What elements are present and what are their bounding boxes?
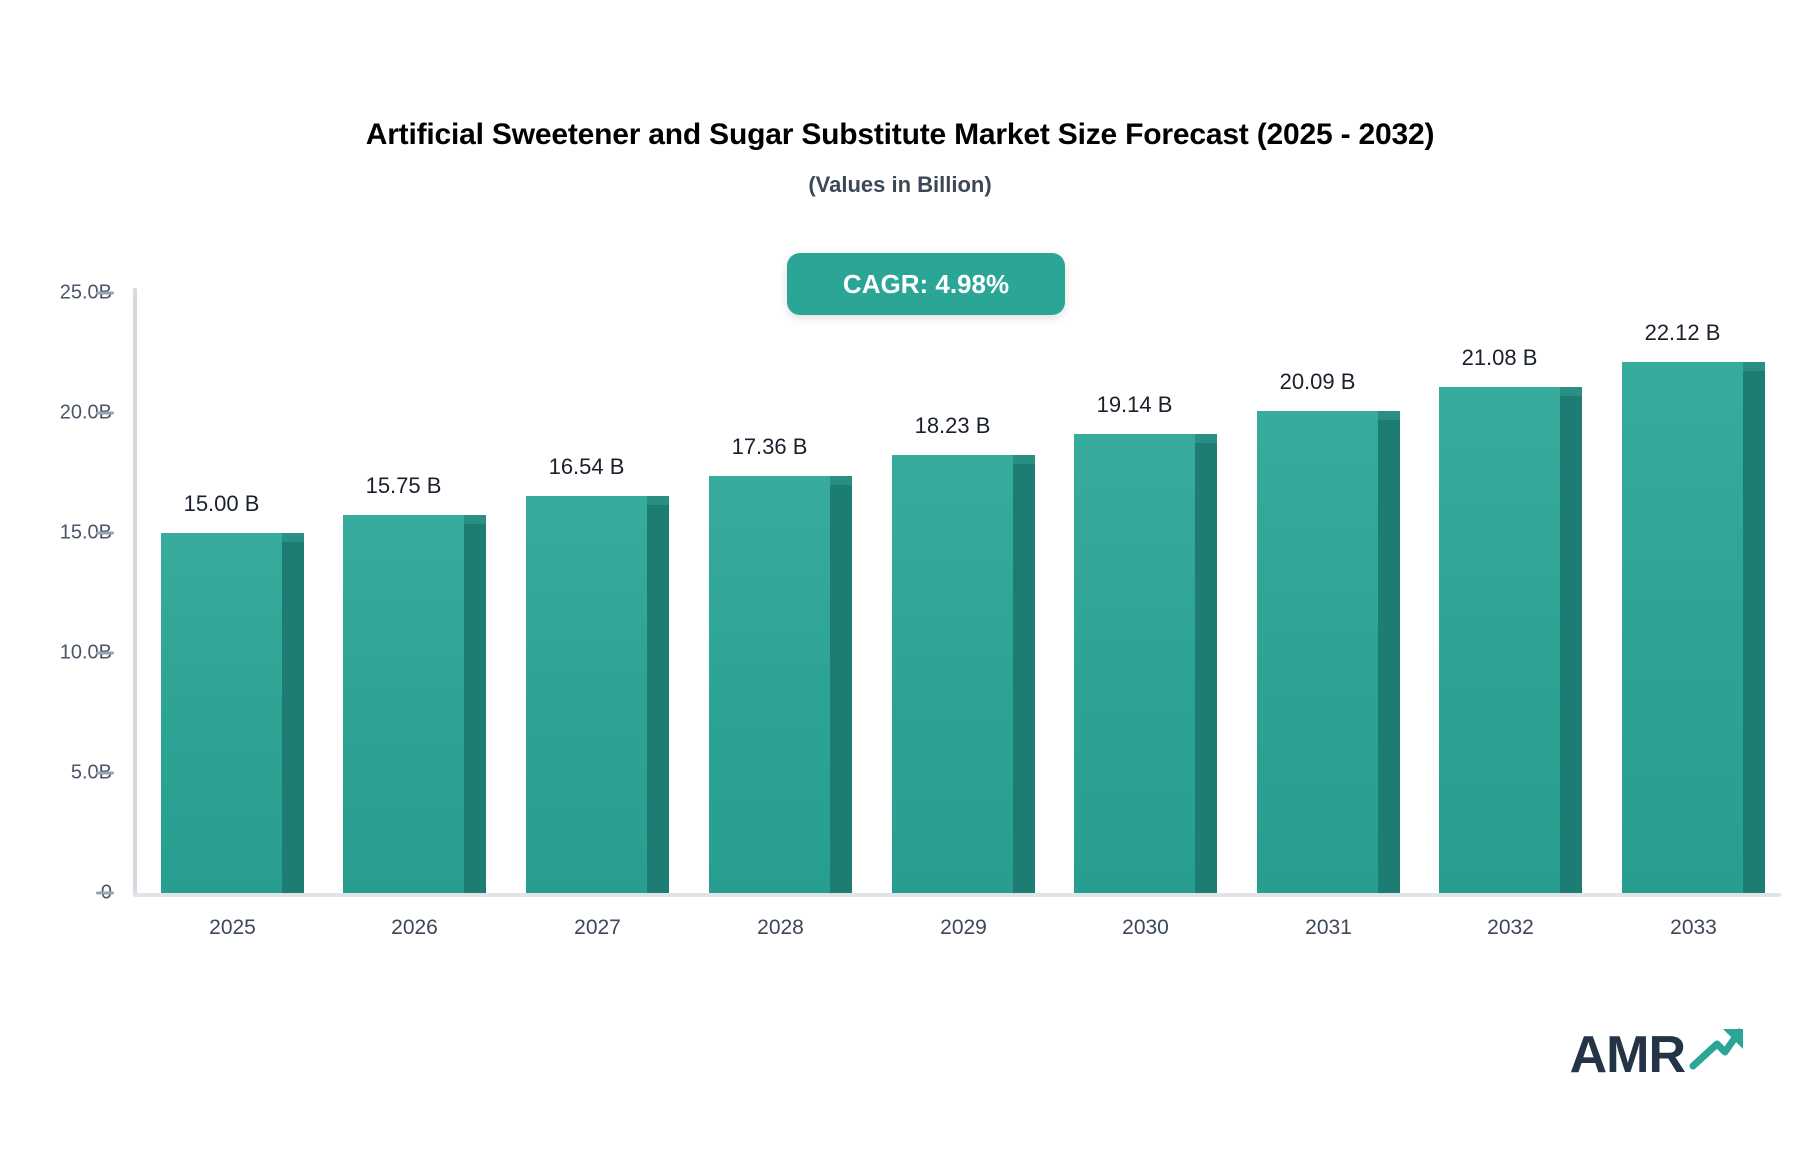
bar-front-face	[1622, 362, 1743, 893]
bar-front-face	[1257, 411, 1378, 893]
bar-value-label: 15.00 B	[184, 491, 260, 517]
bar-side-face	[282, 542, 304, 893]
bar-front-face	[526, 496, 647, 893]
bar-side-face	[464, 524, 486, 893]
bar-value-label: 22.12 B	[1645, 320, 1721, 346]
x-axis-label-2033: 2033	[1670, 916, 1717, 940]
bar-side-face	[647, 505, 669, 893]
bar-2026[interactable]	[343, 515, 486, 893]
bar-side-face	[1743, 371, 1765, 893]
chart-plot-area: 05.0B10.0B15.0B20.0B25.0B 15.00 B15.75 B…	[0, 0, 1800, 1156]
bar-value-label: 21.08 B	[1462, 345, 1538, 371]
y-axis-tick-mark	[96, 892, 114, 895]
bar-side-face	[830, 485, 852, 893]
x-axis-label-2031: 2031	[1305, 916, 1352, 940]
bar-value-label: 16.54 B	[549, 454, 625, 480]
bar-2029[interactable]	[892, 455, 1035, 893]
bar-value-label: 20.09 B	[1280, 369, 1356, 395]
x-axis-label-2026: 2026	[391, 916, 438, 940]
x-axis-label-2032: 2032	[1487, 916, 1534, 940]
bar-front-face	[892, 455, 1013, 893]
x-axis-label-2030: 2030	[1122, 916, 1169, 940]
bar-side-face	[1378, 420, 1400, 893]
x-axis-line	[133, 893, 1781, 897]
bar-2033[interactable]	[1622, 362, 1765, 893]
y-axis-line	[133, 288, 137, 895]
y-axis-tick-mark	[96, 532, 114, 535]
bar-side-face	[1560, 396, 1582, 893]
amr-logo: AMR	[1570, 1026, 1745, 1081]
bar-2028[interactable]	[709, 476, 852, 893]
x-axis-label-2029: 2029	[940, 916, 987, 940]
bar-top-face	[647, 496, 669, 505]
x-axis-label-2025: 2025	[209, 916, 256, 940]
bar-top-face	[1743, 362, 1765, 371]
bar-value-label: 19.14 B	[1097, 392, 1173, 418]
x-axis-label-2028: 2028	[757, 916, 804, 940]
y-axis-tick-mark	[96, 772, 114, 775]
bar-top-face	[1195, 434, 1217, 443]
bar-front-face	[709, 476, 830, 893]
bar-2030[interactable]	[1074, 434, 1217, 893]
bar-front-face	[343, 515, 464, 893]
bar-top-face	[1378, 411, 1400, 420]
bar-front-face	[161, 533, 282, 893]
arrow-up-right-icon	[1687, 1026, 1745, 1077]
bar-top-face	[830, 476, 852, 485]
bar-2031[interactable]	[1257, 411, 1400, 893]
bar-2032[interactable]	[1439, 387, 1582, 893]
y-axis-tick-mark	[96, 652, 114, 655]
bar-value-label: 18.23 B	[915, 413, 991, 439]
bar-top-face	[1560, 387, 1582, 396]
y-axis-tick-mark	[96, 412, 114, 415]
y-axis-tick-mark	[96, 292, 114, 295]
bar-value-label: 15.75 B	[366, 473, 442, 499]
bar-side-face	[1013, 464, 1035, 893]
bar-front-face	[1439, 387, 1560, 893]
bar-side-face	[1195, 443, 1217, 893]
amr-logo-text: AMR	[1570, 1029, 1685, 1081]
bar-top-face	[1013, 455, 1035, 464]
bar-top-face	[282, 533, 304, 542]
bar-2027[interactable]	[526, 496, 669, 893]
bar-top-face	[464, 515, 486, 524]
bar-front-face	[1074, 434, 1195, 893]
x-axis-label-2027: 2027	[574, 916, 621, 940]
bar-2025[interactable]	[161, 533, 304, 893]
bar-value-label: 17.36 B	[732, 434, 808, 460]
